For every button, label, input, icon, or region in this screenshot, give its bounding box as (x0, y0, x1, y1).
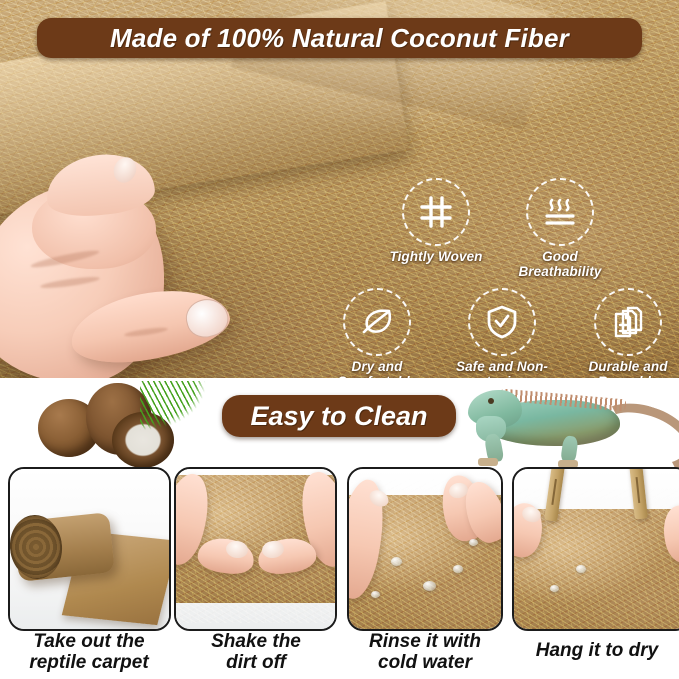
feature-dry-and-comfortable: Dry and Comfortable (318, 288, 436, 378)
step-caption-line1: Shake the (176, 631, 336, 652)
documents-plus-minus-icon (610, 304, 646, 340)
headline-text: Made of 100% Natural Coconut Fiber (110, 23, 569, 54)
step-photo-rinse-cold-water (347, 467, 503, 631)
headline-banner: Made of 100% Natural Coconut Fiber (37, 18, 642, 58)
feature-label: Durable and Reusable (569, 360, 679, 378)
step-caption-line1: Take out the (4, 631, 174, 652)
feature-label: Good Breathability (501, 250, 619, 279)
green-iguana (466, 382, 678, 468)
feature-safe-non-toxic: Safe and Non-toxic (443, 288, 561, 378)
feature-circle-outline (594, 288, 662, 356)
step-caption-line2: reptile carpet (4, 652, 174, 673)
feature-circle-outline (526, 178, 594, 246)
leaf-icon (359, 305, 395, 339)
water-droplet (469, 539, 478, 546)
hand-holding-fiber (0, 143, 214, 378)
feature-circle-outline (402, 178, 470, 246)
feature-label: Dry and Comfortable (318, 360, 436, 378)
water-droplet (371, 591, 380, 598)
water-droplet (453, 565, 463, 573)
feature-circle-outline (343, 288, 411, 356)
step-caption-line1: Hang it to dry (512, 640, 679, 661)
water-droplet (423, 581, 436, 591)
iguana-eye (488, 398, 494, 404)
palm-frond-blades (140, 381, 230, 453)
step-caption-line1: Rinse it with (342, 631, 508, 652)
step-photo-shake-dirt-off (174, 467, 337, 631)
clothespin-slit (551, 479, 557, 505)
step-caption-2: Shake the dirt off (176, 631, 336, 674)
feature-durable-reusable: Durable and Reusable (569, 288, 679, 378)
feature-circle-outline (468, 288, 536, 356)
step-caption-3: Rinse it with cold water (342, 631, 508, 674)
palm-frond (140, 381, 230, 453)
feature-good-breathability: Good Breathability (501, 178, 619, 279)
water-droplet (550, 585, 559, 592)
water-droplet (576, 565, 586, 573)
woven-grid-icon (419, 195, 453, 229)
product-infographic: Tightly Woven Good Breathability (0, 0, 679, 679)
step-caption-line2: dirt off (176, 652, 336, 673)
water-droplet (391, 557, 402, 566)
steam-breathability-icon (542, 195, 578, 229)
shield-check-icon (485, 304, 519, 340)
step-caption-1: Take out the reptile carpet (4, 631, 174, 674)
feature-tightly-woven: Tightly Woven (377, 178, 495, 265)
clothespin-slit (636, 477, 641, 503)
feature-label: Tightly Woven (377, 250, 495, 265)
iguana-hind-leg (560, 435, 578, 463)
step-photo-hang-to-dry (512, 467, 679, 631)
easy-to-clean-banner: Easy to Clean (222, 395, 456, 437)
step-photo-take-out-carpet (8, 467, 171, 631)
easy-to-clean-text: Easy to Clean (250, 401, 427, 432)
iguana-front-foot (478, 458, 498, 466)
feature-label: Safe and Non-toxic (443, 360, 561, 378)
step-caption-4: Hang it to dry (512, 640, 679, 661)
step-caption-line2: cold water (342, 652, 508, 673)
